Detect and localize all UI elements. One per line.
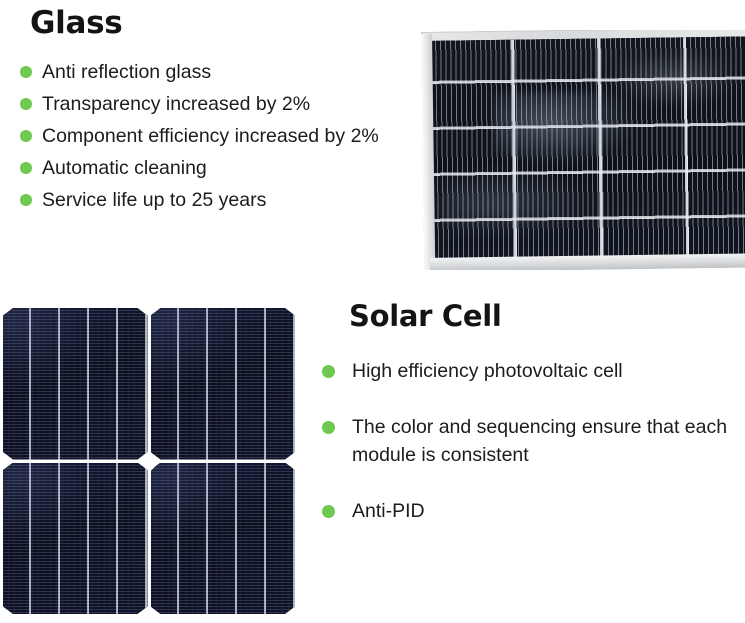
list-item-label: Component efficiency increased by 2% <box>42 122 420 151</box>
glass-glare-reflection <box>440 165 597 233</box>
module-laminate <box>431 36 745 259</box>
list-item-label: Anti-PID <box>352 497 737 526</box>
list-item-label: Anti reflection glass <box>42 58 420 87</box>
solar-cell <box>151 463 296 615</box>
solar-cell-feature-list: High efficiency photovoltaic cell The co… <box>322 357 737 552</box>
cell-sheen <box>3 308 90 384</box>
list-item-label: Transparency increased by 2% <box>42 90 420 119</box>
cell-sheen <box>151 308 238 384</box>
bullet-dot-icon <box>20 66 32 78</box>
solar-cells-photo <box>3 308 295 614</box>
list-item: The color and sequencing ensure that eac… <box>322 413 737 470</box>
list-item-label: Automatic cleaning <box>42 154 420 183</box>
glass-section-title: Glass <box>30 4 122 42</box>
list-item: High efficiency photovoltaic cell <box>322 357 737 386</box>
glass-glare-reflection <box>608 50 738 108</box>
solar-cell <box>151 308 296 460</box>
list-item-label: Service life up to 25 years <box>42 186 420 215</box>
cell-sheen <box>3 463 90 539</box>
bullet-dot-icon <box>20 162 32 174</box>
bullet-dot-icon <box>20 130 32 142</box>
list-item: Component efficiency increased by 2% <box>20 122 420 151</box>
list-item: Anti-PID <box>322 497 737 526</box>
list-item: Service life up to 25 years <box>20 186 420 215</box>
list-item-label: High efficiency photovoltaic cell <box>352 357 737 386</box>
bullet-dot-icon <box>20 98 32 110</box>
module-frame <box>421 30 745 270</box>
photovoltaic-module-photo <box>417 30 745 270</box>
solar-cell-section-title: Solar Cell <box>349 298 502 334</box>
cell-sheen <box>151 463 238 539</box>
bullet-dot-icon <box>322 365 335 378</box>
list-item-label: The color and sequencing ensure that eac… <box>352 413 737 470</box>
bullet-dot-icon <box>322 421 335 434</box>
list-item: Transparency increased by 2% <box>20 90 420 119</box>
solar-cell <box>3 308 148 460</box>
list-item: Anti reflection glass <box>20 58 420 87</box>
glass-feature-list: Anti reflection glass Transparency incre… <box>20 58 420 218</box>
solar-cell <box>3 463 148 615</box>
product-feature-panel: Glass Anti reflection glass Transparency… <box>0 0 745 623</box>
list-item: Automatic cleaning <box>20 154 420 183</box>
bullet-dot-icon <box>20 194 32 206</box>
bullet-dot-icon <box>322 505 335 518</box>
